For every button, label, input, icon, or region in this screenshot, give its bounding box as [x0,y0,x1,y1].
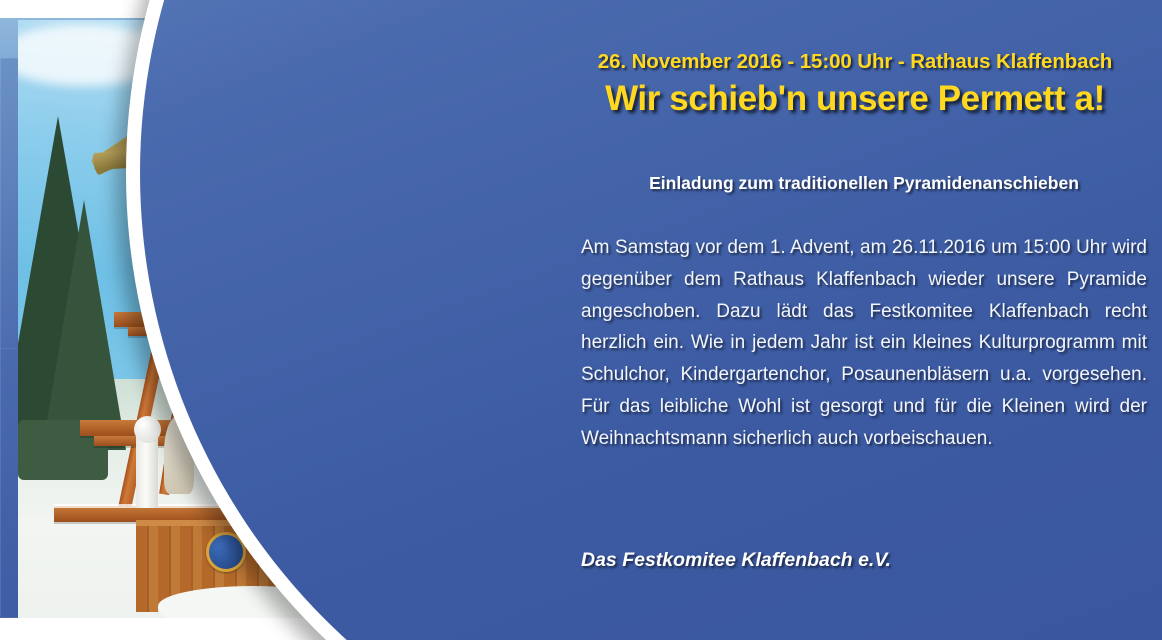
poster-canvas: 26. November 2016 - 15:00 Uhr - Rathaus … [0,0,1162,640]
page-title: Wir schieb'n unsere Permett a! [563,79,1147,119]
event-kicker: 26. November 2016 - 15:00 Uhr - Rathaus … [563,50,1147,74]
subheading: Einladung zum traditionellen Pyramidenan… [581,173,1147,194]
body-text: Am Samstag vor dem 1. Advent, am 26.11.2… [581,232,1147,455]
signature: Das Festkomitee Klaffenbach e.V. [581,549,1147,572]
body-paragraph: Am Samstag vor dem 1. Advent, am 26.11.2… [581,232,1147,455]
candle-post [136,432,158,508]
candle-knob [134,416,161,443]
text-column: 26. November 2016 - 15:00 Uhr - Rathaus … [563,0,1147,640]
